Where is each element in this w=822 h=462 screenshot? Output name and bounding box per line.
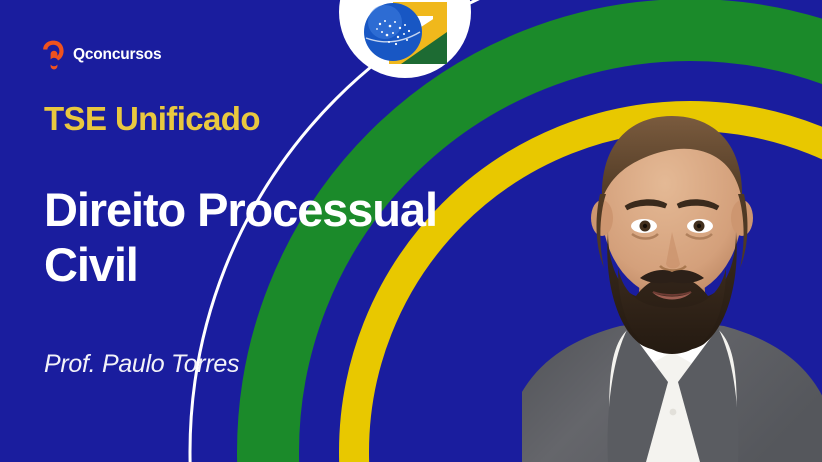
qconcursos-wordmark: Qconcursos bbox=[73, 46, 161, 64]
title-line-2: Civil bbox=[44, 238, 138, 291]
qconcursos-q-icon bbox=[40, 40, 66, 70]
presenter-photo bbox=[522, 82, 822, 462]
presenter-name: Prof. Paulo Torres bbox=[44, 350, 239, 379]
tse-emblem bbox=[339, 0, 471, 78]
person-pupil-core-left bbox=[643, 224, 647, 228]
person-pupil-core-right bbox=[697, 224, 701, 228]
page-title: Direito Processual Civil bbox=[44, 183, 494, 292]
title-line-1: Direito Processual bbox=[44, 183, 437, 236]
presentation-slide: Qconcursos TSE Unificado Direito Process… bbox=[0, 0, 822, 462]
exam-name: TSE Unificado bbox=[44, 100, 260, 138]
person-shirt-button bbox=[670, 409, 677, 416]
emblem-artwork bbox=[363, 2, 449, 74]
qconcursos-logo[interactable]: Qconcursos bbox=[40, 40, 161, 70]
